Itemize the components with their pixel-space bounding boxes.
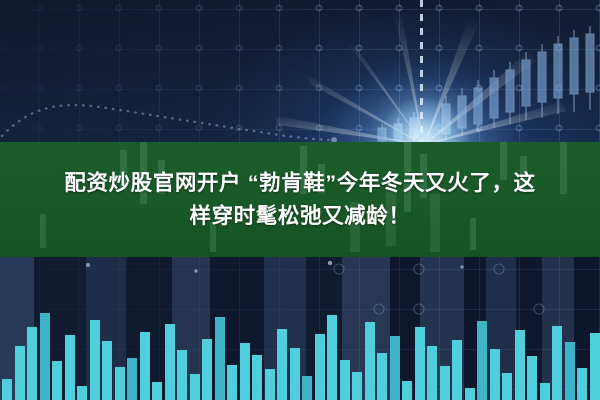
volume-bar: [52, 361, 62, 400]
volume-bar: [165, 324, 175, 400]
volume-bar: [327, 315, 337, 400]
volume-bar: [290, 348, 300, 400]
volume-bar: [240, 343, 250, 400]
volume-bar: [252, 355, 262, 400]
volume-bar: [365, 322, 375, 400]
volume-bar: [265, 369, 275, 400]
volume-bar: [577, 368, 587, 400]
headline-line-1: 配资炒股官网开户 “勃肯鞋”今年冬天又火了，这: [64, 169, 535, 197]
volume-bar: [215, 317, 225, 400]
volume-bar: [90, 320, 100, 400]
volume-bar: [127, 358, 137, 400]
volume-bar: [552, 326, 562, 400]
volume-bar: [427, 346, 437, 400]
volume-bar: [277, 329, 287, 400]
volume-bar: [115, 367, 125, 400]
volume-bar: [590, 333, 600, 400]
volume-bar: [40, 313, 50, 400]
volume-bar: [102, 341, 112, 400]
volume-bar: [227, 365, 237, 400]
volume-bar: [390, 336, 400, 400]
volume-bar: [377, 353, 387, 400]
banner-canvas: 配资炒股官网开户 “勃肯鞋”今年冬天又火了，这 样穿时髦松弛又减龄！: [0, 0, 600, 400]
volume-bar: [302, 376, 312, 400]
volume-bar: [465, 388, 475, 400]
volume-bar: [490, 349, 500, 400]
volume-bar: [65, 335, 75, 400]
volume-bar: [440, 366, 450, 400]
volume-bar: [340, 360, 350, 400]
volume-bar: [315, 334, 325, 400]
volume-bar: [202, 339, 212, 400]
volume-bar: [477, 321, 487, 400]
headline-line-2: 样穿时髦松弛又减龄！: [189, 202, 410, 230]
volume-bar: [177, 350, 187, 400]
volume-bar: [540, 383, 550, 400]
volume-bar: [415, 327, 425, 400]
volume-bar: [140, 332, 150, 400]
volume-bar: [27, 327, 37, 400]
volume-bar: [452, 340, 462, 400]
volume-bar: [190, 374, 200, 400]
volume-bar: [515, 330, 525, 400]
headline-banner: 配资炒股官网开户 “勃肯鞋”今年冬天又火了，这 样穿时髦松弛又减龄！: [0, 142, 600, 257]
volume-bar: [2, 379, 12, 400]
volume-chart: [0, 257, 600, 400]
volume-bar: [15, 346, 25, 400]
volume-bar: [502, 373, 512, 400]
volume-bar: [527, 356, 537, 400]
volume-bar: [77, 386, 87, 400]
volume-bar: [565, 342, 575, 400]
volume-bar: [152, 382, 162, 400]
volume-bar: [352, 372, 362, 400]
dashed-scan-line: [420, 0, 423, 150]
headline-text: 配资炒股官网开户 “勃肯鞋”今年冬天又火了，这 样穿时髦松弛又减龄！: [0, 142, 600, 257]
volume-bar: [402, 381, 412, 400]
